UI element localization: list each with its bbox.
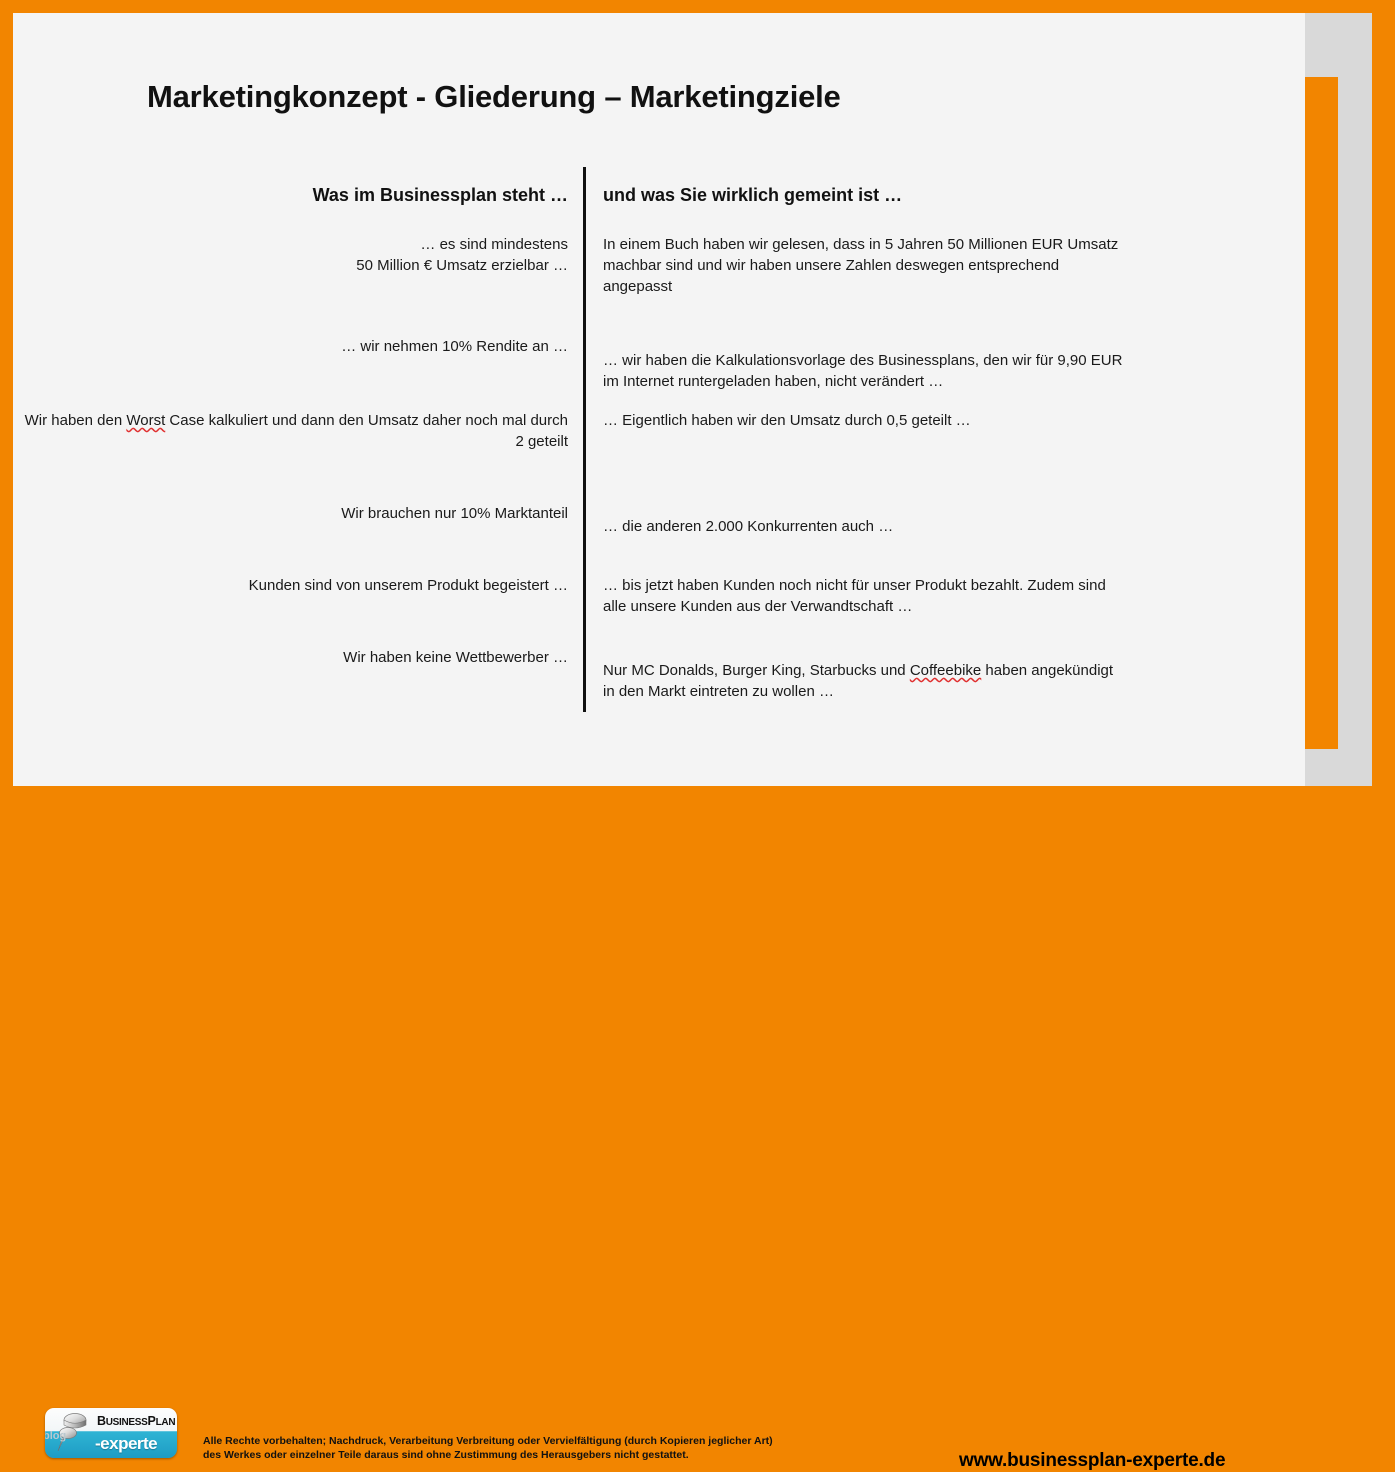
logo-title-usiness: USINESS <box>106 1417 148 1428</box>
copyright-notice: Alle Rechte vorbehalten; Nachdruck, Vera… <box>203 1434 773 1462</box>
cell-real-meaning: … Eigentlich haben wir den Umsatz durch … <box>603 410 1123 431</box>
meaning-text-before: Nur MC Donalds, Burger King, Starbucks u… <box>603 662 910 679</box>
cell-real-meaning: … bis jetzt haben Kunden noch nicht für … <box>603 575 1123 617</box>
cell-real-meaning: In einem Buch haben wir gelesen, dass in… <box>603 234 1123 297</box>
cell-businessplan-claim: … wir nehmen 10% Rendite an … <box>13 336 568 357</box>
logo-plate: BUSINESSPLAN -experte blog <box>45 1408 177 1458</box>
logo-title-b: B <box>97 1414 106 1428</box>
logo-watermark: blog <box>45 1430 66 1442</box>
businessplan-experte-logo[interactable]: BUSINESSPLAN -experte blog <box>45 1408 177 1458</box>
logo-title: BUSINESSPLAN <box>97 1414 175 1428</box>
cell-businessplan-claim: … es sind mindestens 50 Million € Umsatz… <box>13 234 568 276</box>
column-divider <box>583 167 586 712</box>
website-url[interactable]: www.businessplan-experte.de <box>959 1450 1225 1472</box>
slide-frame: Marketingkonzept - Gliederung – Marketin… <box>0 0 1395 799</box>
page-title: Marketingkonzept - Gliederung – Marketin… <box>147 79 841 115</box>
decorative-grey-plate-bottom <box>1305 749 1372 786</box>
logo-title-lan: LAN <box>156 1417 176 1428</box>
cell-businessplan-claim: Wir haben den Worst Case kalkuliert und … <box>13 410 568 452</box>
column-header-meaning: und was Sie wirklich gemeint ist … <box>603 185 1263 206</box>
logo-subtitle: -experte <box>95 1434 157 1454</box>
logo-title-p: P <box>148 1414 156 1428</box>
copyright-line-2: des Werkes oder einzelner Teile daraus s… <box>203 1448 773 1462</box>
claim-text-before: Wir haben den <box>25 412 127 429</box>
misspelled-word: Worst <box>126 412 165 429</box>
cell-businessplan-claim: Kunden sind von unserem Produkt begeiste… <box>13 575 568 596</box>
cell-real-meaning: … wir haben die Kalkulationsvorlage des … <box>603 350 1123 392</box>
claim-text-after: Case kalkuliert und dann den Umsatz dahe… <box>165 412 568 450</box>
cell-real-meaning: … die anderen 2.000 Konkurrenten auch … <box>603 516 1123 537</box>
slide-footer: BUSINESSPLAN -experte blog Alle Rechte v… <box>13 706 1305 786</box>
misspelled-word: Coffeebike <box>910 662 981 679</box>
cell-businessplan-claim: Wir haben keine Wettbewerber … <box>13 647 568 668</box>
copyright-line-1: Alle Rechte vorbehalten; Nachdruck, Vera… <box>203 1434 773 1448</box>
column-header-businessplan: Was im Businessplan steht … <box>13 185 568 206</box>
slide-canvas: Marketingkonzept - Gliederung – Marketin… <box>13 13 1305 786</box>
decorative-grey-plate-band <box>1338 13 1372 786</box>
cell-businessplan-claim: Wir brauchen nur 10% Marktanteil <box>13 503 568 524</box>
cell-real-meaning: Nur MC Donalds, Burger King, Starbucks u… <box>603 660 1123 702</box>
